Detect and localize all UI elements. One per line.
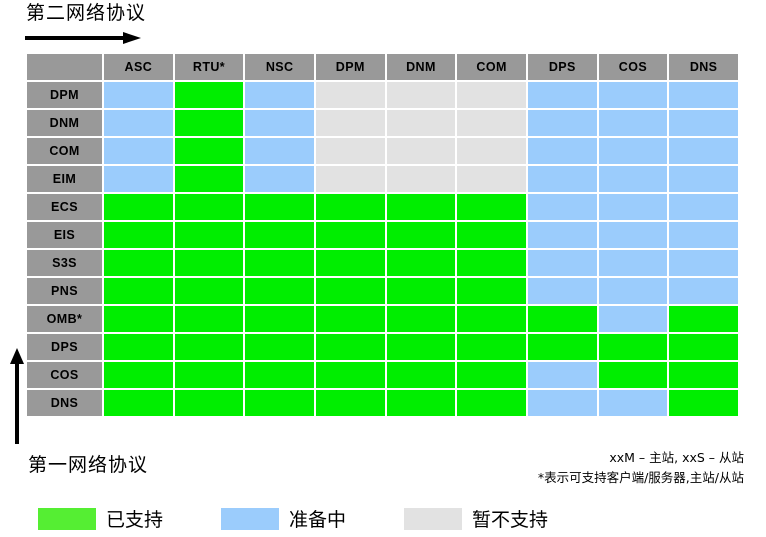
matrix-cell-blue (599, 138, 668, 164)
matrix-col-header: DNS (669, 54, 738, 80)
matrix-cell-green (457, 222, 526, 248)
matrix-cell-green (387, 390, 456, 416)
matrix-cell-green (457, 362, 526, 388)
matrix-body: DPMDNMCOMEIMECSEISS3SPNSOMB*DPSCOSDNS (27, 82, 738, 416)
matrix-cell-green (457, 334, 526, 360)
matrix-cell-green (175, 278, 244, 304)
legend: 已支持准备中暂不支持 (38, 505, 606, 532)
matrix-col-header: COM (457, 54, 526, 80)
matrix-cell-green (104, 306, 173, 332)
matrix-cell-green (245, 278, 314, 304)
matrix-cell-green (245, 222, 314, 248)
legend-item-blue: 准备中 (221, 505, 346, 532)
matrix-cell-green (316, 250, 385, 276)
matrix-cell-green (669, 390, 738, 416)
matrix-cell-blue (669, 278, 738, 304)
matrix-header-row: ASCRTU*NSCDPMDNMCOMDPSCOSDNS (27, 54, 738, 80)
matrix-row-header: COM (27, 138, 102, 164)
matrix-cell-green (104, 250, 173, 276)
matrix-cell-gray (387, 110, 456, 136)
legend-swatch-blue (221, 508, 279, 530)
matrix-cell-green (175, 82, 244, 108)
matrix-cell-blue (528, 222, 597, 248)
matrix-col-header: ASC (104, 54, 173, 80)
matrix-cell-green (387, 222, 456, 248)
legend-item-green: 已支持 (38, 505, 163, 532)
matrix-cell-blue (245, 82, 314, 108)
matrix-cell-green (175, 194, 244, 220)
matrix-cell-green (669, 306, 738, 332)
matrix-cell-green (175, 250, 244, 276)
matrix-row-header: OMB* (27, 306, 102, 332)
matrix-row: COM (27, 138, 738, 164)
matrix-cell-green (316, 362, 385, 388)
matrix-cell-green (669, 334, 738, 360)
matrix-cell-green (245, 334, 314, 360)
legend-label: 已支持 (106, 505, 163, 532)
matrix-cell-blue (104, 166, 173, 192)
matrix-cell-blue (669, 82, 738, 108)
matrix-row-header: EIS (27, 222, 102, 248)
arrow-right-icon (25, 32, 141, 44)
matrix-row-header: EIM (27, 166, 102, 192)
matrix-cell-blue (669, 250, 738, 276)
matrix-cell-blue (528, 278, 597, 304)
matrix-row-header: COS (27, 362, 102, 388)
matrix-row: PNS (27, 278, 738, 304)
matrix-col-header: DPS (528, 54, 597, 80)
matrix-cell-green (104, 334, 173, 360)
matrix-cell-blue (528, 250, 597, 276)
matrix-cell-blue (599, 194, 668, 220)
matrix-cell-green (175, 334, 244, 360)
matrix-cell-gray (316, 138, 385, 164)
matrix-cell-green (104, 194, 173, 220)
matrix-cell-blue (599, 82, 668, 108)
matrix-cell-green (457, 250, 526, 276)
matrix-cell-gray (387, 82, 456, 108)
matrix-cell-blue (245, 110, 314, 136)
matrix-cell-blue (528, 390, 597, 416)
matrix-cell-green (457, 194, 526, 220)
matrix-row-header: DNS (27, 390, 102, 416)
matrix-row: ECS (27, 194, 738, 220)
matrix-cell-green (104, 278, 173, 304)
matrix-header: ASCRTU*NSCDPMDNMCOMDPSCOSDNS (27, 54, 738, 80)
matrix-cell-gray (387, 138, 456, 164)
left-axis-label: 第一网络协议 (28, 452, 148, 478)
matrix-cell-green (528, 306, 597, 332)
note-line: *表示可支持客户端/服务器,主站/从站 (538, 468, 744, 488)
matrix-cell-green (387, 334, 456, 360)
matrix-cell-green (387, 362, 456, 388)
matrix-col-header: DNM (387, 54, 456, 80)
matrix-cell-green (457, 278, 526, 304)
matrix-cell-green (387, 194, 456, 220)
notes-block: xxM – 主站, xxS – 从站*表示可支持客户端/服务器,主站/从站 (538, 448, 744, 488)
matrix-cell-blue (669, 110, 738, 136)
matrix-row: DPM (27, 82, 738, 108)
matrix-cell-gray (457, 110, 526, 136)
matrix-cell-green (316, 194, 385, 220)
matrix-cell-blue (528, 194, 597, 220)
matrix-cell-gray (316, 110, 385, 136)
matrix-cell-gray (316, 166, 385, 192)
matrix-row-header: DPM (27, 82, 102, 108)
matrix-cell-green (316, 334, 385, 360)
matrix-cell-blue (669, 194, 738, 220)
matrix-row: DNM (27, 110, 738, 136)
matrix-row: EIM (27, 166, 738, 192)
matrix-cell-green (599, 362, 668, 388)
matrix-cell-green (104, 222, 173, 248)
legend-label: 准备中 (289, 505, 346, 532)
matrix-col-header: DPM (316, 54, 385, 80)
matrix-cell-green (175, 306, 244, 332)
note-line: xxM – 主站, xxS – 从站 (538, 448, 744, 468)
legend-swatch-gray (404, 508, 462, 530)
matrix-cell-green (387, 306, 456, 332)
matrix-cell-blue (599, 250, 668, 276)
matrix-cell-green (457, 306, 526, 332)
matrix-row-header: S3S (27, 250, 102, 276)
matrix-cell-blue (528, 82, 597, 108)
matrix-cell-green (316, 278, 385, 304)
legend-item-gray: 暂不支持 (404, 505, 548, 532)
matrix-row: OMB* (27, 306, 738, 332)
matrix-cell-blue (669, 138, 738, 164)
matrix-corner-cell (27, 54, 102, 80)
matrix-cell-green (387, 250, 456, 276)
matrix-row-header: DPS (27, 334, 102, 360)
matrix-cell-green (175, 390, 244, 416)
matrix-row-header: PNS (27, 278, 102, 304)
arrow-up-icon (10, 348, 24, 444)
matrix-cell-gray (387, 166, 456, 192)
matrix-cell-green (316, 306, 385, 332)
legend-swatch-green (38, 508, 96, 530)
matrix-row: COS (27, 362, 738, 388)
matrix-col-header: NSC (245, 54, 314, 80)
matrix-cell-green (316, 222, 385, 248)
matrix-cell-blue (104, 138, 173, 164)
matrix-cell-green (245, 390, 314, 416)
matrix-cell-blue (599, 278, 668, 304)
matrix-col-header: COS (599, 54, 668, 80)
matrix-cell-green (316, 390, 385, 416)
matrix-cell-green (104, 390, 173, 416)
matrix-cell-blue (669, 166, 738, 192)
matrix-cell-green (599, 334, 668, 360)
matrix-cell-green (245, 362, 314, 388)
matrix-cell-blue (669, 222, 738, 248)
matrix-cell-green (175, 110, 244, 136)
matrix-row: DPS (27, 334, 738, 360)
matrix-cell-green (245, 306, 314, 332)
matrix-cell-blue (245, 138, 314, 164)
support-matrix: ASCRTU*NSCDPMDNMCOMDPSCOSDNS DPMDNMCOMEI… (25, 52, 740, 418)
matrix-cell-green (175, 138, 244, 164)
matrix-cell-green (528, 334, 597, 360)
matrix-cell-green (387, 278, 456, 304)
matrix-cell-gray (457, 138, 526, 164)
matrix-cell-green (175, 166, 244, 192)
matrix-cell-blue (528, 166, 597, 192)
matrix-cell-gray (457, 82, 526, 108)
top-axis-label: 第二网络协议 (26, 0, 146, 26)
matrix-cell-blue (528, 362, 597, 388)
matrix-cell-blue (599, 166, 668, 192)
matrix-cell-green (104, 362, 173, 388)
matrix-row: EIS (27, 222, 738, 248)
matrix-cell-green (669, 362, 738, 388)
matrix-cell-green (457, 390, 526, 416)
matrix-cell-green (175, 222, 244, 248)
matrix-cell-blue (599, 390, 668, 416)
matrix-cell-blue (528, 138, 597, 164)
matrix-cell-blue (104, 82, 173, 108)
matrix-cell-green (245, 250, 314, 276)
matrix-cell-blue (245, 166, 314, 192)
legend-label: 暂不支持 (472, 505, 548, 532)
matrix-cell-gray (457, 166, 526, 192)
matrix-cell-green (175, 362, 244, 388)
matrix-cell-blue (599, 306, 668, 332)
matrix-cell-green (245, 194, 314, 220)
matrix-row-header: DNM (27, 110, 102, 136)
matrix-cell-blue (104, 110, 173, 136)
matrix-col-header: RTU* (175, 54, 244, 80)
matrix-cell-blue (599, 110, 668, 136)
matrix-cell-gray (316, 82, 385, 108)
matrix-cell-blue (599, 222, 668, 248)
matrix-cell-blue (528, 110, 597, 136)
matrix-row-header: ECS (27, 194, 102, 220)
matrix-row: DNS (27, 390, 738, 416)
matrix-row: S3S (27, 250, 738, 276)
